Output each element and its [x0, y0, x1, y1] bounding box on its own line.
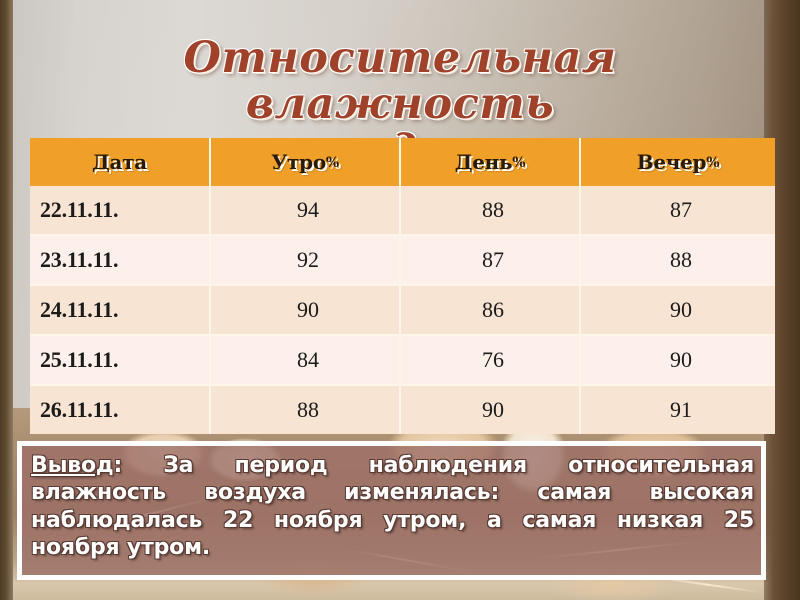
cell-evening: 91: [580, 385, 775, 434]
cell-morning: 84: [210, 335, 400, 385]
cell-day: 90: [400, 385, 580, 434]
table-header-row: Дата Утро% День% Вечер%: [30, 138, 775, 186]
cell-day: 86: [400, 285, 580, 335]
table-header: Дата Утро% День% Вечер%: [30, 138, 775, 186]
table-row: 23.11.11. 92 87 88: [30, 235, 775, 285]
table-row: 25.11.11. 84 76 90: [30, 335, 775, 385]
column-header-morning-label: Утро: [271, 150, 326, 174]
cell-evening: 90: [580, 285, 775, 335]
cell-morning: 88: [210, 385, 400, 434]
cell-date: 23.11.11.: [30, 235, 210, 285]
table-row: 22.11.11. 94 88 87: [30, 186, 775, 235]
cell-date: 22.11.11.: [30, 186, 210, 235]
cell-date: 24.11.11.: [30, 285, 210, 335]
cell-evening: 90: [580, 335, 775, 385]
cell-evening: 87: [580, 186, 775, 235]
conclusion-body: : За период наблюдения относительная вла…: [31, 453, 754, 560]
cell-morning: 90: [210, 285, 400, 335]
column-header-date-label: Дата: [92, 150, 147, 174]
cell-evening: 88: [580, 235, 775, 285]
cell-morning: 92: [210, 235, 400, 285]
cell-date: 25.11.11.: [30, 335, 210, 385]
percent-sign-icon: %: [512, 155, 525, 171]
conclusion-label: Вывод: [31, 453, 113, 478]
percent-sign-icon: %: [706, 155, 719, 171]
column-header-morning: Утро%: [210, 138, 400, 186]
cell-day: 88: [400, 186, 580, 235]
cell-day: 87: [400, 235, 580, 285]
humidity-table: Дата Утро% День% Вечер% 22.11.11. 9: [30, 138, 775, 434]
column-header-evening: Вечер%: [580, 138, 775, 186]
slide-canvas: Относительная влажность воздуха Дата Утр…: [0, 0, 800, 600]
humidity-table-wrapper: Дата Утро% День% Вечер% 22.11.11. 9: [30, 138, 775, 434]
cell-morning: 94: [210, 186, 400, 235]
column-header-day-label: День: [455, 150, 513, 174]
cell-date: 26.11.11.: [30, 385, 210, 434]
left-border-strip: [0, 0, 13, 600]
conclusion-text: Вывод: За период наблюдения относительна…: [31, 452, 754, 561]
column-header-evening-label: Вечер: [637, 150, 706, 174]
table-body: 22.11.11. 94 88 87 23.11.11. 92 87 88 24…: [30, 186, 775, 434]
percent-sign-icon: %: [326, 155, 339, 171]
table-row: 24.11.11. 90 86 90: [30, 285, 775, 335]
column-header-day: День%: [400, 138, 580, 186]
table-row: 26.11.11. 88 90 91: [30, 385, 775, 434]
column-header-date: Дата: [30, 138, 210, 186]
conclusion-box: Вывод: За период наблюдения относительна…: [17, 441, 766, 580]
cell-day: 76: [400, 335, 580, 385]
